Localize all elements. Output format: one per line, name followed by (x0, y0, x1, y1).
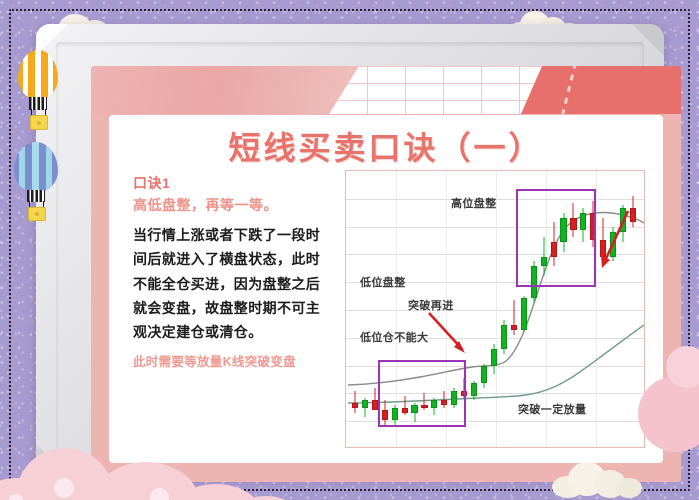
kou-jue-subtitle: 高低盘整，再等一等。 (133, 194, 329, 216)
text-column: 口诀1 高低盘整，再等一等。 当行情上涨或者下跌了一段时间后就进入了横盘状态，此… (133, 173, 329, 372)
balloon-envelope-yellow (18, 50, 58, 99)
balloon-basket-yellow (30, 115, 48, 130)
candlestick-chart: 高位盘整 低位盘整 突破再进 低位仓不能大 突破一定放量 (345, 170, 645, 448)
page-title: 短线买卖口诀（一） (109, 123, 663, 169)
balloon-envelope-blue (14, 142, 58, 192)
annotation-high-consolidation: 高位盘整 (451, 195, 497, 211)
kou-jue-footer: 此时需要等放量K线突破变盘 (133, 353, 329, 372)
pink-mat: 短线买卖口诀（一） 口诀1 高低盘整，再等一等。 当行情上涨或者下跌了一段时间后… (91, 66, 681, 482)
top-right-arrow-icon (601, 211, 628, 268)
pink-cloud-bottom-left (0, 432, 304, 500)
kou-jue-label: 口诀1 (133, 173, 329, 194)
annotation-breakout-volume: 突破一定放量 (518, 401, 586, 417)
annotation-low-consolidation: 低位盘整 (360, 274, 406, 290)
cloud-bottom-right-icon (552, 462, 642, 498)
kou-jue-body: 当行情上涨或者下跌了一段时间后就进入了横盘状态，此时不能全仓买进，因为盘整之后就… (133, 223, 329, 343)
hot-air-balloon-blue (14, 142, 58, 218)
balloon-basket-blue (28, 207, 46, 221)
chart-overlay: 高位盘整 低位盘整 突破再进 低位仓不能大 突破一定放量 (346, 171, 644, 447)
poster-stage: 短线买卖口诀（一） 口诀1 高低盘整，再等一等。 当行情上涨或者下跌了一段时间后… (0, 0, 699, 500)
hot-air-balloon-yellow (18, 50, 58, 128)
mat-swath-left (91, 66, 361, 114)
mat-decoration (91, 66, 681, 114)
annotation-breakout-reenter: 突破再进 (408, 297, 454, 313)
content-card: 短线买卖口诀（一） 口诀1 高低盘整，再等一等。 当行情上涨或者下跌了一段时间后… (109, 115, 663, 463)
annotation-low-position-small: 低位仓不能大 (360, 329, 428, 345)
breakout-arrow-icon (429, 313, 465, 353)
mat-swath-right (521, 66, 681, 114)
photo-frame: 短线买卖口诀（一） 口诀1 高低盘整，再等一等。 当行情上涨或者下跌了一段时间后… (36, 24, 664, 476)
